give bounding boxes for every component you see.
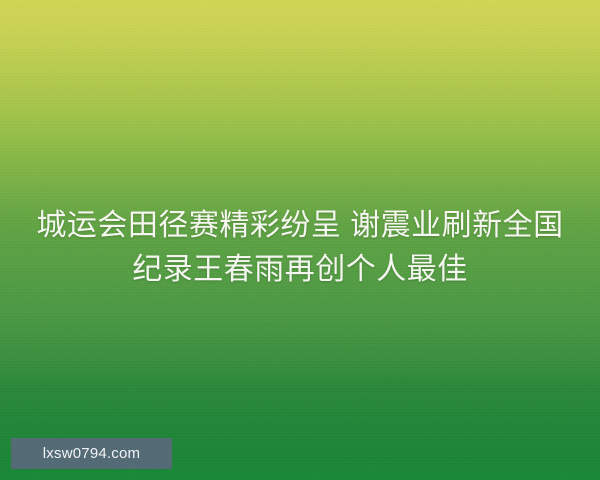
- image-canvas: 城运会田径赛精彩纷呈 谢震业刷新全国 纪录王春雨再创个人最佳 lxsw0794.…: [0, 0, 600, 480]
- watermark-label: lxsw0794.com: [43, 446, 140, 461]
- gradient-background: [0, 0, 600, 480]
- site-watermark: lxsw0794.com: [11, 438, 172, 469]
